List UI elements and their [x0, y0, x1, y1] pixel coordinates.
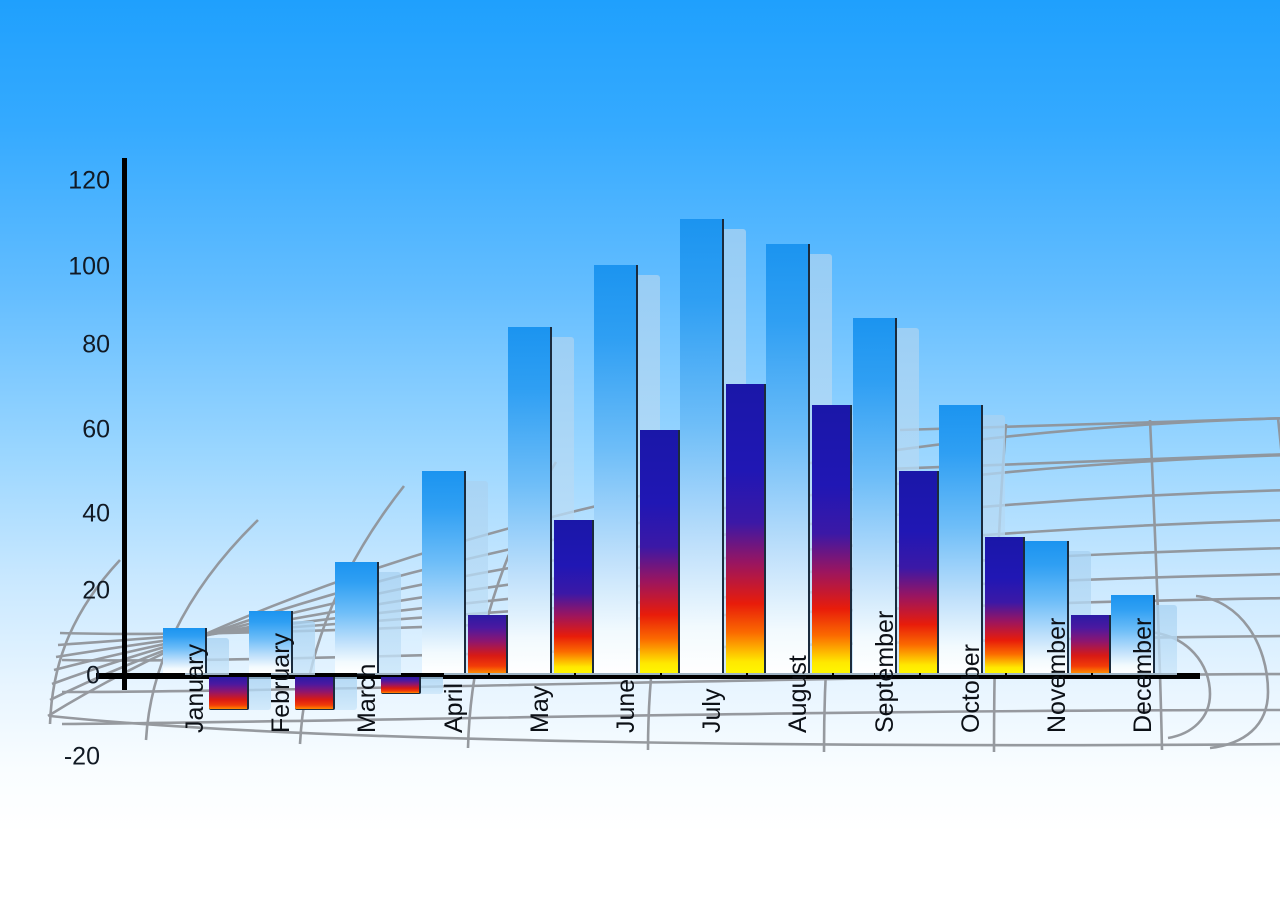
- bar-blue-july[interactable]: [680, 219, 724, 673]
- bar-thermometer-may[interactable]: [554, 520, 594, 673]
- x-axis-label-october: October: [957, 644, 986, 733]
- y-tick-label-0: 0: [48, 662, 100, 691]
- x-axis-label-september: September: [871, 611, 900, 733]
- x-axis-label-november: November: [1043, 618, 1072, 733]
- chart-canvas: 120 100 80 60 40 20 0 -20 JanuaryFebruar…: [0, 0, 1280, 905]
- bar-thermometer-september[interactable]: [899, 471, 939, 673]
- y-tick-label-60: 60: [58, 416, 110, 445]
- x-axis-label-december: December: [1129, 618, 1158, 733]
- bar-blue-august[interactable]: [766, 244, 810, 673]
- x-axis-label-june: June: [612, 679, 641, 733]
- y-tick-label-120: 120: [58, 167, 110, 196]
- bar-blue-may[interactable]: [508, 327, 552, 674]
- bar-thermometer-july[interactable]: [726, 384, 766, 673]
- x-axis-label-january: January: [181, 644, 210, 733]
- x-axis-label-february: February: [267, 633, 296, 733]
- x-axis-label-may: May: [526, 686, 555, 733]
- bar-thermometer-october[interactable]: [985, 537, 1025, 673]
- y-tick-label-20: 20: [58, 577, 110, 606]
- y-tick-label-100: 100: [58, 253, 110, 282]
- y-axis-line: [122, 158, 127, 690]
- bar-blue-june[interactable]: [594, 265, 638, 673]
- bar-blue-october[interactable]: [939, 405, 983, 673]
- bar-thermometer-november[interactable]: [1071, 615, 1111, 673]
- x-axis-label-august: August: [784, 655, 813, 733]
- x-axis-label-march: March: [353, 664, 382, 733]
- bar-thermometer-january[interactable]: [209, 677, 249, 710]
- bar-blue-march[interactable]: [335, 562, 379, 673]
- y-tick-label-80: 80: [58, 331, 110, 360]
- x-axis-label-april: April: [440, 683, 469, 733]
- bar-thermometer-june[interactable]: [640, 430, 680, 673]
- x-axis-label-july: July: [698, 689, 727, 733]
- plot-area: 120 100 80 60 40 20 0 -20 JanuaryFebruar…: [0, 0, 1280, 905]
- y-tick-mark: [108, 674, 138, 678]
- y-tick-label-neg20: -20: [38, 743, 100, 772]
- bar-thermometer-march[interactable]: [381, 677, 421, 694]
- bar-blue-april[interactable]: [422, 471, 466, 673]
- bar-thermometer-april[interactable]: [468, 615, 508, 673]
- bar-thermometer-august[interactable]: [812, 405, 852, 673]
- bar-thermometer-february[interactable]: [295, 677, 335, 710]
- y-tick-label-40: 40: [58, 500, 110, 529]
